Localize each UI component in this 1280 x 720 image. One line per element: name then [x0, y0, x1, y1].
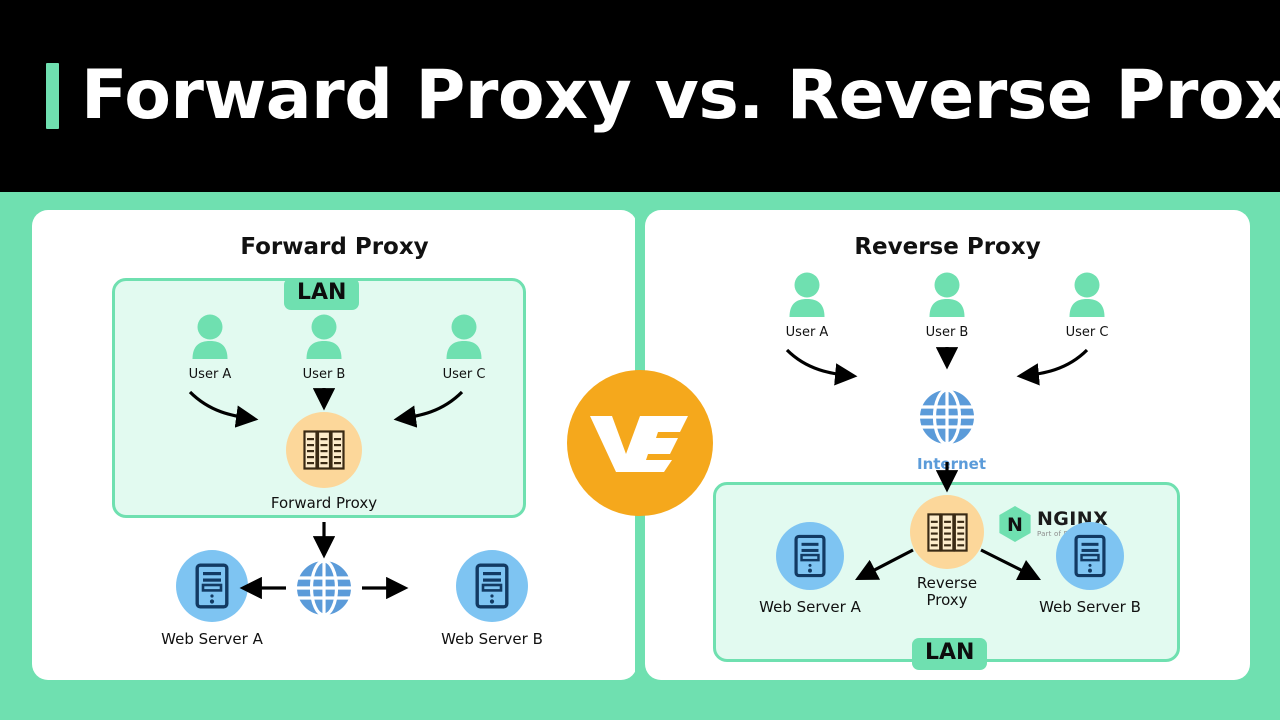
forward-web-server-b: Web Server B	[427, 550, 557, 648]
user-icon	[303, 314, 345, 359]
header-bar: Forward Proxy vs. Reverse Proxy	[0, 0, 1280, 192]
reverse-web-server-b-circle	[1056, 522, 1124, 590]
user-icon	[1066, 272, 1108, 317]
forward-internet-node	[294, 558, 354, 623]
reverse-proxy-title: Reverse Proxy	[645, 234, 1250, 260]
reverse-proxy-card: Reverse Proxy User A User B User C	[645, 210, 1250, 680]
server-rack-icon	[925, 510, 970, 555]
reverse-user-b: User B	[887, 272, 1007, 340]
reverse-web-server-b: Web Server B	[1025, 522, 1155, 616]
server-tower-icon	[794, 534, 826, 578]
reverse-user-c-label: User C	[1027, 325, 1147, 340]
forward-web-server-b-label: Web Server B	[427, 630, 557, 648]
forward-user-b: User B	[264, 314, 384, 382]
forward-user-a: User A	[150, 314, 270, 382]
page-title: Forward Proxy vs. Reverse Proxy	[81, 62, 1280, 130]
server-tower-icon	[1074, 534, 1106, 578]
forward-proxy-node: Forward Proxy	[264, 412, 384, 512]
forward-web-server-a-label: Web Server A	[147, 630, 277, 648]
slide-root: Forward Proxy vs. Reverse Proxy Forward …	[0, 0, 1280, 720]
vs-badge	[567, 370, 713, 516]
forward-proxy-circle	[286, 412, 362, 488]
reverse-proxy-circle	[910, 495, 984, 569]
server-tower-icon	[475, 563, 509, 609]
server-tower-icon	[195, 563, 229, 609]
reverse-proxy-label-line2: Proxy	[887, 592, 1007, 609]
forward-user-b-label: User B	[264, 367, 384, 382]
vs-icon	[588, 410, 692, 476]
reverse-internet-label: Internet	[917, 455, 977, 473]
globe-icon	[294, 558, 354, 618]
forward-user-a-label: User A	[150, 367, 270, 382]
reverse-web-server-b-label: Web Server B	[1025, 598, 1155, 616]
reverse-internet-node: Internet	[917, 387, 977, 473]
forward-proxy-label: Forward Proxy	[264, 494, 384, 512]
forward-web-server-a-circle	[176, 550, 248, 622]
forward-proxy-card: Forward Proxy LAN User A User B User C	[32, 210, 637, 680]
globe-icon	[917, 387, 977, 447]
forward-web-server-a: Web Server A	[147, 550, 277, 648]
reverse-web-server-a-label: Web Server A	[745, 598, 875, 616]
user-icon	[443, 314, 485, 359]
reverse-proxy-label-line1: Reverse	[887, 575, 1007, 592]
reverse-user-c: User C	[1027, 272, 1147, 340]
svg-text:N: N	[1007, 514, 1023, 536]
user-icon	[926, 272, 968, 317]
server-rack-icon	[301, 427, 347, 473]
reverse-proxy-node: Reverse Proxy	[887, 495, 1007, 610]
user-icon	[786, 272, 828, 317]
forward-user-c: User C	[404, 314, 524, 382]
user-icon	[189, 314, 231, 359]
forward-web-server-b-circle	[456, 550, 528, 622]
reverse-user-a-label: User A	[747, 325, 867, 340]
title-accent-bar	[46, 63, 59, 129]
reverse-lan-badge: LAN	[912, 638, 987, 670]
reverse-web-server-a-circle	[776, 522, 844, 590]
reverse-user-b-label: User B	[887, 325, 1007, 340]
forward-proxy-title: Forward Proxy	[32, 234, 637, 260]
reverse-web-server-a: Web Server A	[745, 522, 875, 616]
forward-user-c-label: User C	[404, 367, 524, 382]
forward-lan-badge: LAN	[284, 278, 359, 310]
reverse-user-a: User A	[747, 272, 867, 340]
